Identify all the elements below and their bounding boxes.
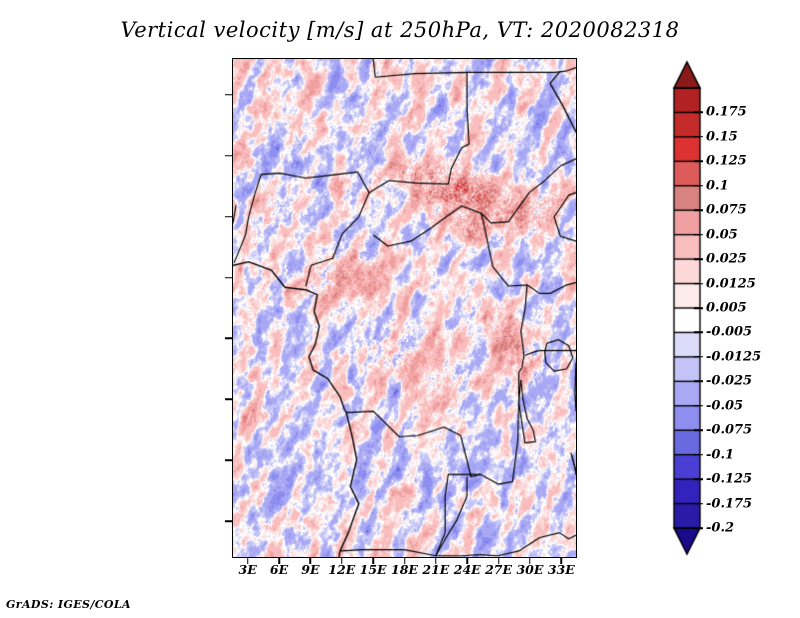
- grads-attribution: GrADS: IGES/COLA: [6, 598, 131, 611]
- x-tick-label: 27E: [485, 562, 512, 577]
- colorbar-tick-label: 0.005: [706, 301, 747, 316]
- colorbar-tick-mark: [694, 185, 703, 187]
- colorbar-tick-label: -0.2: [706, 521, 734, 536]
- x-tick-mark: [466, 558, 468, 564]
- x-tick-mark: [372, 558, 374, 564]
- colorbar-tick-mark: [694, 112, 703, 114]
- y-axis: 20N15N10N5NEQ5S10S15S: [0, 0, 232, 618]
- colorbar-tick-mark: [694, 527, 703, 529]
- colorbar-tick-label: -0.005: [706, 325, 752, 340]
- colorbar-tick-label: 0.1: [706, 178, 729, 193]
- colorbar-tick-label: -0.175: [706, 496, 752, 511]
- x-tick-label: 6E: [270, 562, 288, 577]
- colorbar-tick-mark: [694, 405, 703, 407]
- x-tick-label: 30E: [516, 562, 543, 577]
- colorbar-tick-label: -0.0125: [706, 349, 761, 364]
- y-tick-mark: [225, 155, 232, 157]
- colorbar-tick-mark: [694, 136, 703, 138]
- x-tick-label: 12E: [328, 562, 355, 577]
- colorbar-tick-label: -0.1: [706, 447, 734, 462]
- colorbar-tick-label: 0.125: [706, 154, 747, 169]
- colorbar-tick-mark: [694, 258, 703, 260]
- x-tick-label: 21E: [422, 562, 449, 577]
- colorbar-tick-mark: [694, 503, 703, 505]
- colorbar-tick-mark: [694, 478, 703, 480]
- colorbar-tick-mark: [694, 161, 703, 163]
- map-plot-area[interactable]: [232, 58, 577, 558]
- x-tick-label: 3E: [239, 562, 257, 577]
- y-tick-mark: [225, 338, 232, 340]
- y-tick-mark: [225, 521, 232, 523]
- colorbar-tick-label: 0.025: [706, 252, 747, 267]
- x-tick-label: 24E: [454, 562, 481, 577]
- colorbar-tick-mark: [694, 454, 703, 456]
- colorbar-tick-mark: [694, 356, 703, 358]
- y-tick-mark: [225, 277, 232, 279]
- colorbar-tick-mark: [694, 234, 703, 236]
- x-tick-label: 18E: [391, 562, 418, 577]
- x-tick-mark: [498, 558, 500, 564]
- x-tick-mark: [310, 558, 312, 564]
- x-tick-mark: [529, 558, 531, 564]
- y-tick-mark: [225, 399, 232, 401]
- x-tick-mark: [561, 558, 563, 564]
- colorbar-tick-label: -0.125: [706, 472, 752, 487]
- x-tick-mark: [341, 558, 343, 564]
- x-tick-label: 33E: [548, 562, 575, 577]
- colorbar-tick-mark: [694, 283, 703, 285]
- colorbar: 0.1750.150.1250.10.0750.050.0250.01250.0…: [666, 58, 796, 558]
- colorbar-tick-label: 0.075: [706, 203, 747, 218]
- colorbar-tick-label: -0.025: [706, 374, 752, 389]
- colorbar-tick-mark: [694, 332, 703, 334]
- y-tick-mark: [225, 460, 232, 462]
- colorbar-tick-label: 0.15: [706, 129, 738, 144]
- y-tick-mark: [225, 94, 232, 96]
- x-tick-label: 15E: [360, 562, 387, 577]
- colorbar-tick-label: -0.05: [706, 398, 743, 413]
- vertical-velocity-heatmap: [233, 59, 576, 557]
- colorbar-tick-label: 0.05: [706, 227, 738, 242]
- x-tick-mark: [435, 558, 437, 564]
- colorbar-tick-mark: [694, 209, 703, 211]
- x-tick-mark: [247, 558, 249, 564]
- colorbar-tick-label: 0.0125: [706, 276, 756, 291]
- y-tick-mark: [225, 216, 232, 218]
- colorbar-tick-label: -0.075: [706, 423, 752, 438]
- colorbar-tick-mark: [694, 307, 703, 309]
- colorbar-tick-mark: [694, 429, 703, 431]
- x-tick-mark: [278, 558, 280, 564]
- colorbar-tick-mark: [694, 381, 703, 383]
- colorbar-tick-label: 0.175: [706, 105, 747, 120]
- x-tick-mark: [404, 558, 406, 564]
- x-tick-label: 9E: [301, 562, 319, 577]
